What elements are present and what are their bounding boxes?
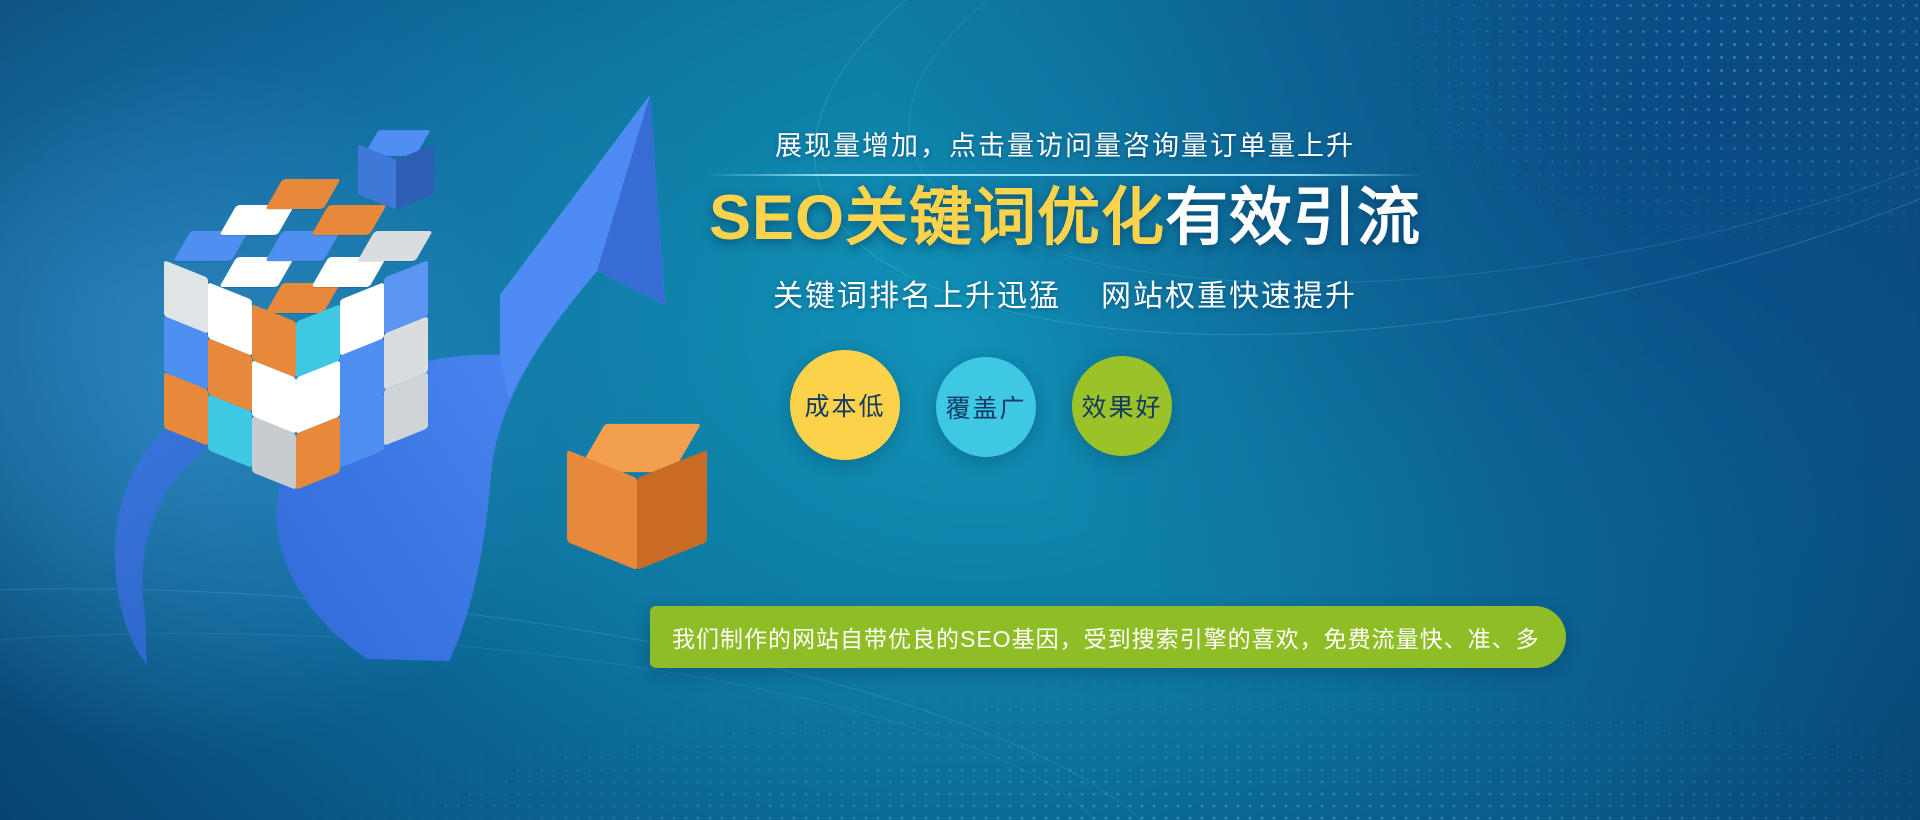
badge-circle-group: 成本低 覆盖广 效果好 [790,340,1350,470]
banner-text-block: 展现量增加，点击量访问量咨询量订单量上升 SEO关键词优化有效引流 关键词排名上… [705,130,1425,315]
floating-orange-cube [565,420,715,580]
divider-rule [705,174,1425,176]
subline-left: 关键词排名上升迅猛 [773,280,1061,313]
floating-blue-cube [357,128,437,216]
badge-effect[interactable]: 效果好 [1072,356,1172,456]
badge-effect-label: 效果好 [1081,388,1162,424]
headline-rest: 有效引流 [1165,183,1421,253]
badge-coverage[interactable]: 覆盖广 [936,357,1036,457]
subline-right: 网站权重快速提升 [1101,280,1357,313]
subline: 关键词排名上升迅猛网站权重快速提升 [705,271,1425,315]
footer-note-bar: 我们制作的网站自带优良的SEO基因，受到搜索引擎的喜欢，免费流量快、准、多 [650,606,1566,668]
badge-cost-label: 成本低 [804,387,885,423]
badge-cost[interactable]: 成本低 [790,350,900,460]
eyebrow-text: 展现量增加，点击量访问量咨询量订单量上升 [705,130,1425,162]
rubik-cube-cluster [120,225,440,525]
illustration-arrow-and-cubes [0,0,720,820]
footer-note-text: 我们制作的网站自带优良的SEO基因，受到搜索引擎的喜欢，免费流量快、准、多 [672,620,1540,654]
badge-coverage-label: 覆盖广 [945,389,1026,425]
seo-promo-banner: 展现量增加，点击量访问量咨询量订单量上升 SEO关键词优化有效引流 关键词排名上… [0,0,1920,820]
headline: SEO关键词优化有效引流 [705,182,1425,254]
headline-highlight: SEO关键词优化 [709,183,1165,253]
